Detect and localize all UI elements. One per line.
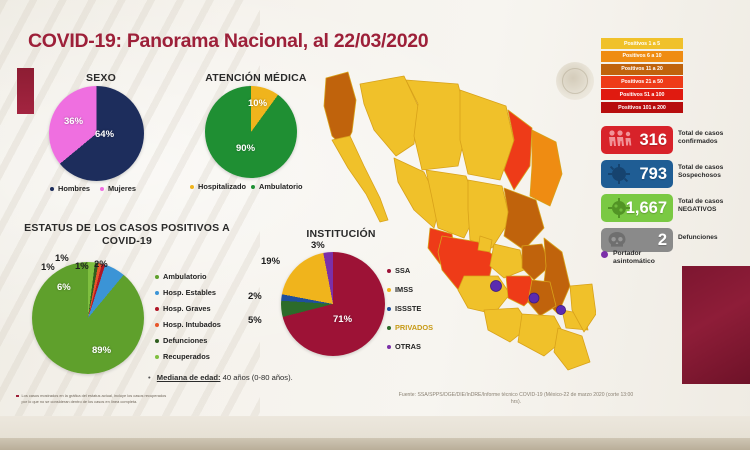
map-legend-band-1: Positivos 1 a 5 [601,38,683,49]
estatus-legend-label-defunciones: Defunciones [163,336,207,345]
page-title: COVID-19: Panorama Nacional, al 22/03/20… [28,30,428,53]
estatus-legend-label-hosp-estables: Hosp. Estables [163,288,216,297]
sexo-legend-dot-hombres [50,187,54,191]
mediana-de-edad: • Mediana de edad: 40 años (0-80 años). [148,373,293,382]
estatus-legend-label-ambulatorio: Ambulatorio [163,272,207,281]
estatus-legend-ambulatorio: Ambulatorio [155,272,207,281]
map-legend-band-4: Positivos 21 a 50 [601,76,683,87]
estatus-label-estables: 6% [57,282,71,293]
mexico-choropleth-map [318,70,596,390]
people-icon [606,129,632,151]
atencion-legend-dot-ambulatorio [251,185,255,189]
stat-value-confirmados: 316 [639,132,667,149]
estatus-legend-dot-hosp-estables [155,291,159,295]
estatus-label-defunciones: 1% [75,261,89,272]
sexo-legend-hombres: Hombres [50,184,90,193]
map-legend-band-3: Positivos 11 a 20 [601,64,683,75]
estatus-pie-chart [32,262,144,374]
sexo-label-hombres: 64% [95,129,114,140]
stat-card-sospechosos: 793 [601,160,673,188]
map-legend: Positivos 1 a 5 Positivos 6 a 10 Positiv… [601,38,683,115]
sexo-legend-dot-mujeres [100,187,104,191]
sexo-label-mujeres: 36% [64,116,83,127]
stat-caption-negativos-l1: Total de casos [678,198,723,205]
atencion-legend-ambulatorio: Ambulatorio [251,182,303,191]
stat-caption-confirmados-l2: confirmados [678,138,718,145]
mediana-bullet-icon: • [148,373,151,382]
atencion-title: ATENCIÓN MÉDICA [191,72,321,84]
maroon-decorative-block [682,266,750,384]
portador-asintomatico-legend: Portador asintomático [601,250,655,267]
estatus-legend-dot-defunciones [155,339,159,343]
atencion-label-ambulatorio: 90% [236,143,255,154]
stat-caption-sospechosos-l1: Total de casos [678,164,723,171]
estatus-title-line2: COVID-19 [102,235,152,247]
atencion-legend-dot-hospitalizado [190,185,194,189]
stat-caption-defunciones: Defunciones [678,234,748,242]
portador-label: Portador asintomático [613,250,655,267]
estatus-label-graves: 1% [55,253,69,264]
covid-dashboard-slide: COVID-19: Panorama Nacional, al 22/03/20… [0,0,750,450]
map-legend-band-5: Positivos 51 a 100 [601,89,683,100]
stat-caption-confirmados: Total de casos confirmados [678,130,748,146]
estatus-legend-recuperados: Recuperados [155,352,210,361]
disclaimer-text: Los casos mostrados en la gráfica del es… [22,393,169,404]
virus-negative-icon [606,197,632,219]
sexo-legend-label-hombres: Hombres [58,184,90,193]
source-note: Fuente: SSA/SPPS/DGE/DIE/InDRE/Informe t… [398,392,634,407]
stat-caption-negativos-l2: NEGATIVOS [678,206,716,213]
stat-caption-defunciones-l1: Defunciones [678,234,718,241]
estatus-title: ESTATUS DE LOS CASOS POSITIVOS A COVID-1… [14,222,240,248]
estatus-legend-label-hosp-intubados: Hosp. Intubados [163,320,221,329]
sexo-legend-mujeres: Mujeres [100,184,136,193]
disclaimer-bullet-icon [16,395,19,398]
estatus-legend-hosp-intubados: Hosp. Intubados [155,320,221,329]
estatus-title-line1: ESTATUS DE LOS CASOS POSITIVOS A [24,222,230,234]
institucion-label-imss: 19% [261,256,280,267]
estatus-legend-hosp-estables: Hosp. Estables [155,288,216,297]
stat-caption-sospechosos-l2: Sospechosos [678,172,721,179]
sexo-title: SEXO [46,72,156,84]
portador-dot-icon [601,251,608,258]
national-seal-watermark [556,62,594,100]
estatus-legend-dot-hosp-graves [155,307,159,311]
stat-card-defunciones: 2 [601,228,673,252]
virus-icon [606,163,632,185]
stat-card-negativos: 1,667 [601,194,673,222]
institucion-label-privados: 5% [248,315,262,326]
left-accent-bar [17,68,34,114]
estatus-legend-dot-hosp-intubados [155,323,159,327]
estatus-legend-defunciones: Defunciones [155,336,207,345]
bottom-band-accent [0,438,750,450]
atencion-legend-label-ambulatorio: Ambulatorio [259,182,303,191]
atencion-label-hospitalizado: 10% [248,98,267,109]
estatus-legend-hosp-graves: Hosp. Graves [155,304,211,313]
estatus-legend-dot-ambulatorio [155,275,159,279]
estatus-legend-label-recuperados: Recuperados [163,352,210,361]
stat-card-confirmados: 316 [601,126,673,154]
map-legend-band-6: Positivos 101 a 200 [601,102,683,113]
portador-label-l1: Portador [613,250,641,257]
institucion-label-issste: 2% [248,291,262,302]
stat-value-defunciones: 2 [658,232,667,249]
portador-label-l2: asintomático [613,258,655,265]
sexo-legend-label-mujeres: Mujeres [108,184,136,193]
disclaimer-note: Los casos mostrados en la gráfica del es… [16,393,168,404]
atencion-legend-label-hospitalizado: Hospitalizado [198,182,246,191]
stat-caption-negativos: Total de casos NEGATIVOS [678,198,748,214]
stat-caption-sospechosos: Total de casos Sospechosos [678,164,748,180]
estatus-label-estables-out: 1% [41,262,55,273]
stat-caption-confirmados-l1: Total de casos [678,130,723,137]
stat-value-sospechosos: 793 [639,166,667,183]
estatus-legend-label-hosp-graves: Hosp. Graves [163,304,211,313]
atencion-legend-hospitalizado: Hospitalizado [190,182,246,191]
estatus-legend-dot-recuperados [155,355,159,359]
estatus-label-recuperados: 2% [94,259,108,270]
skull-icon [606,231,628,249]
mediana-value: 40 años (0-80 años). [223,373,293,382]
map-legend-band-2: Positivos 6 a 10 [601,51,683,62]
estatus-label-ambulatorio: 89% [92,345,111,356]
mediana-label: Mediana de edad: [157,373,221,382]
